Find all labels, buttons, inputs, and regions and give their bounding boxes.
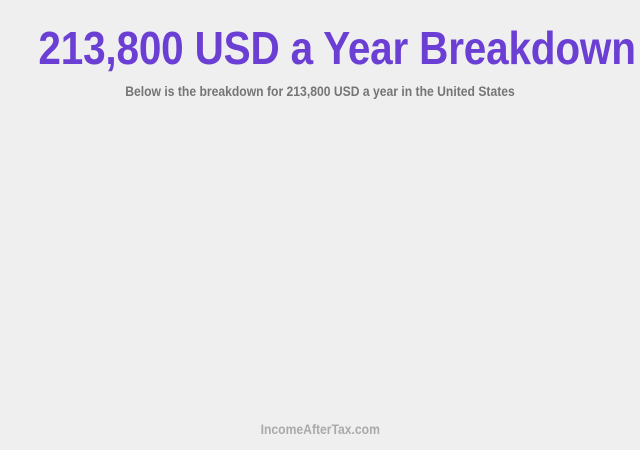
- site-credit: IncomeAfterTax.com: [260, 422, 379, 438]
- breakdown-page: 213,800 USD a Year Breakdown Below is th…: [0, 0, 640, 450]
- page-footer: IncomeAfterTax.com: [0, 421, 640, 439]
- page-title: 213,800 USD a Year Breakdown: [38, 22, 601, 74]
- page-subtitle: Below is the breakdown for 213,800 USD a…: [32, 84, 608, 100]
- chart-area: [0, 112, 640, 412]
- chart-plot-region: [0, 112, 640, 412]
